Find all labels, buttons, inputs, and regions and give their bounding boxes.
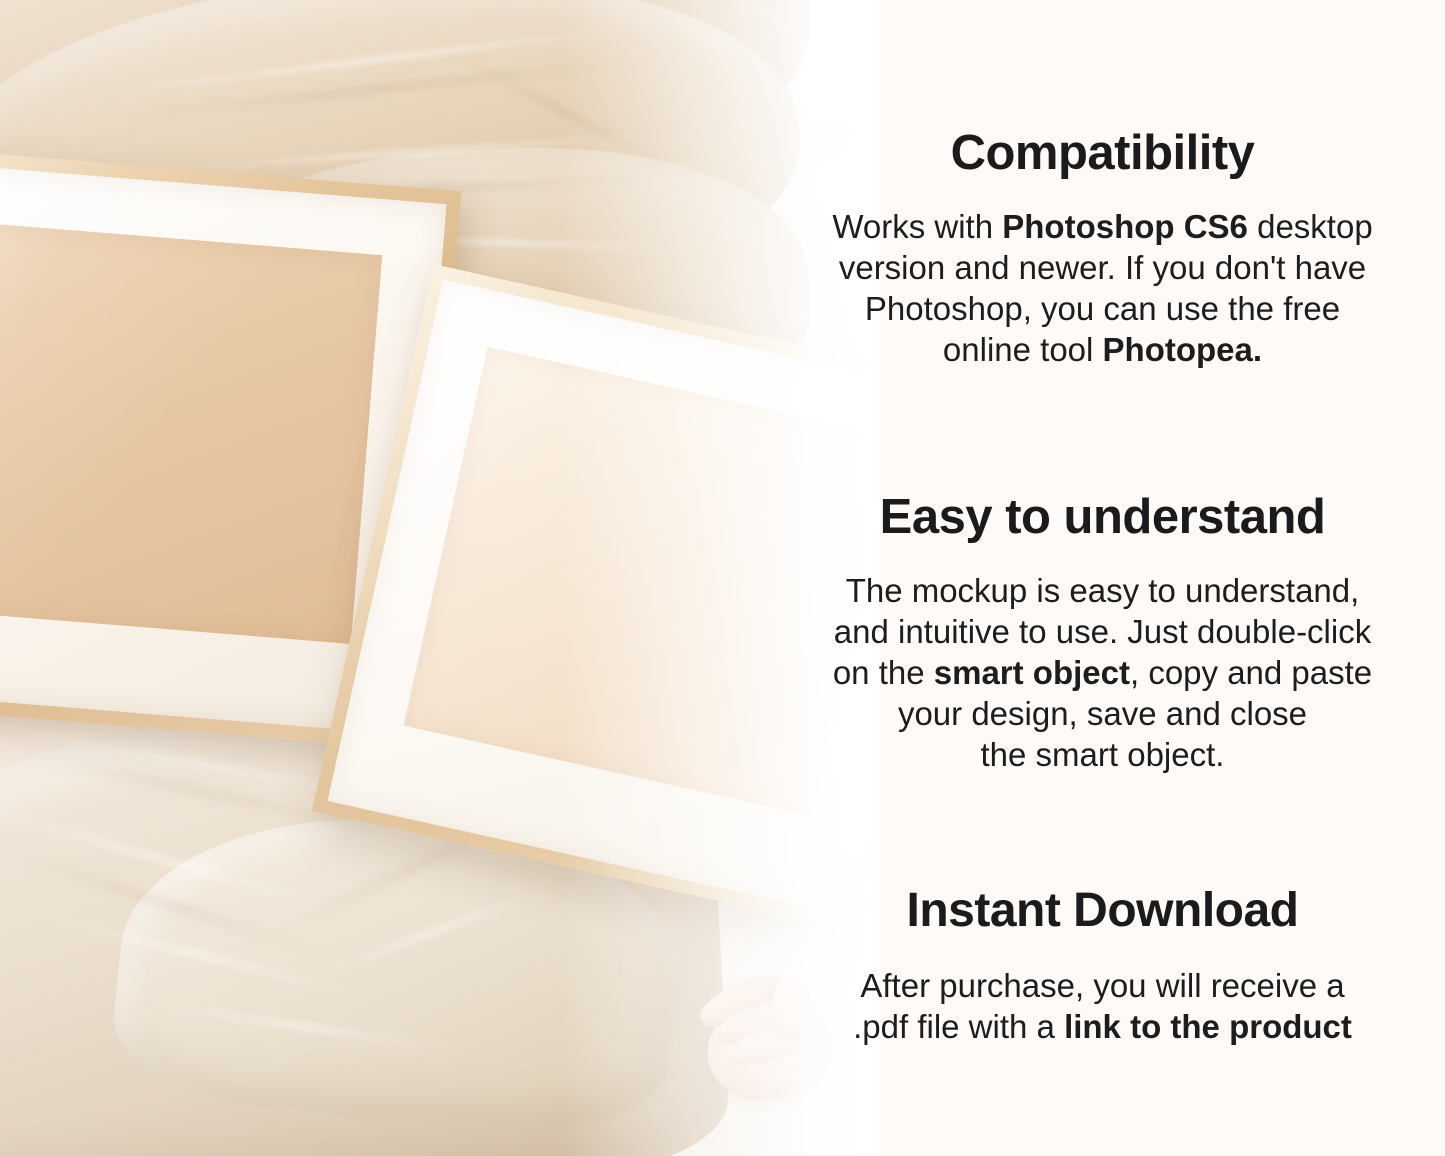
body-text: online tool — [943, 331, 1103, 368]
body-line: .pdf file with a link to the product — [760, 1007, 1445, 1048]
section-body-instant-download: After purchase, you will receive a.pdf f… — [760, 966, 1445, 1048]
body-text-bold: Photoshop CS6 — [1002, 208, 1248, 245]
body-line: the smart object. — [760, 735, 1445, 776]
section-easy-to-understand: Easy to understand The mockup is easy to… — [760, 492, 1445, 775]
body-line: Photoshop, you can use the free — [760, 289, 1445, 330]
listing-image: Compatibility Works with Photoshop CS6 d… — [0, 0, 1445, 1156]
body-text: on the — [833, 654, 934, 691]
body-text: your design, save and close — [898, 695, 1307, 732]
section-heading-easy-to-understand: Easy to understand — [760, 492, 1445, 543]
body-line: online tool Photopea. — [760, 330, 1445, 371]
body-line: version and newer. If you don't have — [760, 248, 1445, 289]
section-heading-compatibility: Compatibility — [760, 128, 1445, 179]
body-text: desktop — [1248, 208, 1373, 245]
feature-text-panel: Compatibility Works with Photoshop CS6 d… — [760, 0, 1445, 1156]
section-body-compatibility: Works with Photoshop CS6 desktopversion … — [760, 207, 1445, 371]
section-heading-instant-download: Instant Download — [760, 886, 1445, 936]
body-text: Photoshop, you can use the free — [865, 290, 1340, 327]
section-body-easy-to-understand: The mockup is easy to understand,and int… — [760, 571, 1445, 776]
bedroom-mockup-photo — [0, 0, 880, 1156]
section-instant-download: Instant Download After purchase, you wil… — [760, 886, 1445, 1048]
body-text: The mockup is easy to understand, — [846, 572, 1360, 609]
body-text: .pdf file with a — [853, 1008, 1064, 1045]
body-text: Works with — [832, 208, 1002, 245]
body-line: Works with Photoshop CS6 desktop — [760, 207, 1445, 248]
body-text-bold: link to the product — [1064, 1008, 1352, 1045]
section-compatibility: Compatibility Works with Photoshop CS6 d… — [760, 128, 1445, 371]
body-line: and intuitive to use. Just double-click — [760, 612, 1445, 653]
body-text: After purchase, you will receive a — [860, 967, 1344, 1004]
body-line: After purchase, you will receive a — [760, 966, 1445, 1007]
body-line: your design, save and close — [760, 694, 1445, 735]
frame-artwork-area — [0, 222, 382, 644]
body-text-bold: Photopea. — [1103, 331, 1263, 368]
body-line: The mockup is easy to understand, — [760, 571, 1445, 612]
body-text: and intuitive to use. Just double-click — [834, 613, 1371, 650]
body-text: the smart object. — [981, 736, 1225, 773]
body-text: version and newer. If you don't have — [839, 249, 1366, 286]
body-text: , copy and paste — [1130, 654, 1372, 691]
body-text-bold: smart object — [934, 654, 1130, 691]
body-line: on the smart object, copy and paste — [760, 653, 1445, 694]
